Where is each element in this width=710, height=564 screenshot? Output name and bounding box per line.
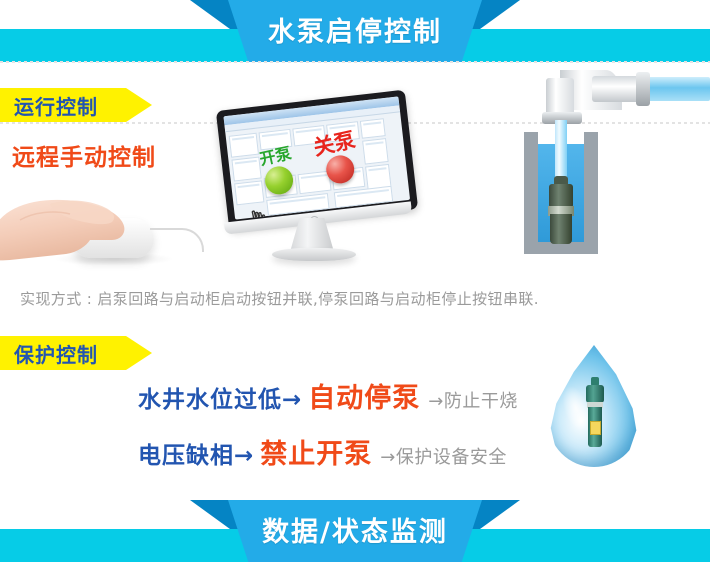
implementation-note: 实现方式 : 启泵回路与启动柜启动按钮并联,停泵回路与启动柜停止按钮串联. [20,288,539,309]
submersible-pump [548,176,574,244]
rule-result: →防止干烧 [428,387,518,413]
hand-icon [0,168,184,276]
tag-run-control: 运行控制 [0,88,152,122]
banner-top: 水泵启停控制 [0,0,710,62]
tag-run-control-label: 运行控制 [14,91,98,120]
well-wall-left [524,132,538,254]
pump-motor [550,214,572,244]
hand-on-mouse-illustration [0,168,184,276]
protection-rule-row: 电压缺相→ 禁止开泵 →保护设备安全 [138,432,507,471]
infographic-canvas: 水泵启停控制 运行控制 远程手动控制 [0,0,710,564]
rule-result: →保护设备安全 [380,443,507,469]
rule-action: 禁止开泵 [260,432,372,471]
pump-body-upper [549,184,573,208]
drop-pump-nameplate [590,421,601,435]
well-pump-illustration [498,64,710,264]
banner-bottom: 数据/状态监测 [0,500,710,562]
drop-submersible-pump [586,377,604,447]
rule-condition: 电压缺相→ [138,436,254,470]
pipe-water-section [644,77,710,101]
pipe-flange-right [636,72,650,106]
rule-action: 自动停泵 [308,376,420,415]
tag-protection-control: 保护控制 [0,336,152,370]
rule-condition: 水井水位过低→ [138,380,302,414]
remote-manual-control-text: 远程手动控制 [12,138,156,172]
protection-rule-row: 水井水位过低→ 自动停泵 →防止干烧 [138,376,518,415]
desktop-monitor: 开泵 关泵 [218,100,418,275]
drop-pump-body-upper [586,385,604,403]
banner-bottom-title: 数据/状态监测 [0,498,710,560]
well-wall-right [584,132,598,254]
tag-protection-control-label: 保护控制 [14,339,98,368]
banner-top-title: 水泵启停控制 [0,0,710,60]
monitor-screen: 开泵 关泵 [223,96,410,219]
water-drop-illustration [548,345,640,467]
monitor-base [272,248,356,261]
divider-dotted-top [0,61,710,63]
